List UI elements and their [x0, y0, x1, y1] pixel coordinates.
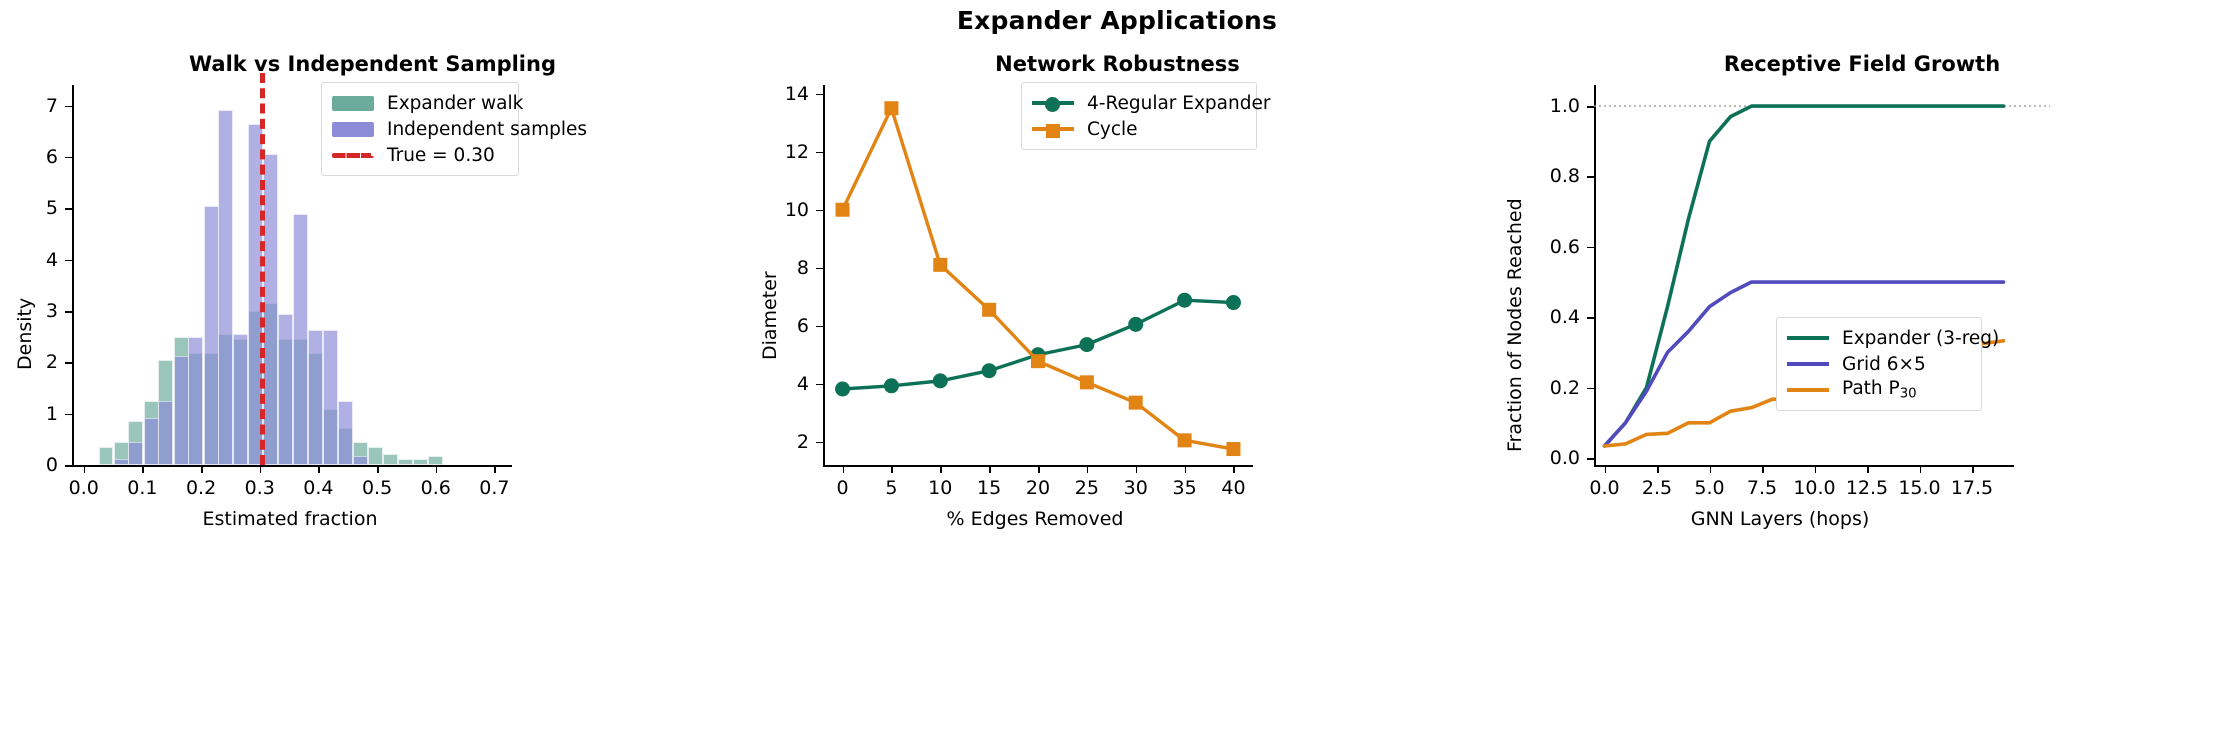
- x-tick-label: 10.0: [1793, 477, 1835, 499]
- x-tick: [201, 466, 203, 473]
- x-tick-label: 5.0: [1694, 477, 1724, 499]
- y-tick: [1587, 106, 1594, 108]
- histogram-bar: [174, 356, 189, 465]
- x-tick-label: 0.4: [303, 477, 333, 499]
- x-tick: [260, 466, 262, 473]
- true-value-vline: [260, 73, 265, 465]
- data-point-marker: [1128, 317, 1143, 332]
- x-tick: [1867, 466, 1869, 473]
- legend-line: [1787, 336, 1829, 340]
- x-tick-label: 30: [1124, 477, 1148, 499]
- panel1-legend-item[interactable]: Independent samples: [332, 116, 508, 142]
- y-tick: [816, 268, 823, 270]
- histogram-bar: [413, 459, 428, 465]
- series-line: [843, 300, 1234, 389]
- y-tick-label: 1: [46, 403, 58, 425]
- data-point-marker: [1080, 375, 1094, 389]
- x-tick-label: 0.5: [362, 477, 392, 499]
- x-tick-label: 0.3: [245, 477, 275, 499]
- histogram-bar: [233, 334, 248, 465]
- data-point-marker: [933, 258, 947, 272]
- legend-circle-marker: [1045, 97, 1060, 112]
- y-tick-label: 0.4: [1550, 306, 1580, 328]
- y-tick-label: 14: [785, 83, 809, 105]
- x-tick: [989, 466, 991, 473]
- x-tick: [494, 466, 496, 473]
- y-tick-label: 2: [46, 351, 58, 373]
- legend-swatch: [332, 122, 374, 137]
- data-point-marker: [835, 382, 850, 397]
- x-tick-label: 15.0: [1898, 477, 1940, 499]
- x-tick: [1087, 466, 1089, 473]
- x-tick-label: 0.7: [479, 477, 509, 499]
- legend-label: True = 0.30: [387, 145, 495, 166]
- y-tick-label: 5: [46, 197, 58, 219]
- x-tick-label: 0.0: [69, 477, 99, 499]
- data-point-marker: [836, 203, 850, 217]
- panel2-title: Network Robustness: [745, 52, 1490, 76]
- x-tick: [891, 466, 893, 473]
- panel2-legend: 4-Regular ExpanderCycle: [1021, 82, 1257, 150]
- y-tick-label: 3: [46, 300, 58, 322]
- x-tick-label: 40: [1221, 477, 1245, 499]
- histogram-bar: [158, 401, 173, 465]
- x-tick: [1233, 466, 1235, 473]
- x-tick-label: 5: [885, 477, 897, 499]
- data-point-marker: [933, 373, 948, 388]
- histogram-bar: [204, 206, 219, 465]
- y-tick: [816, 442, 823, 444]
- x-tick: [377, 466, 379, 473]
- x-tick: [318, 466, 320, 473]
- legend-label: Independent samples: [387, 119, 587, 140]
- panel3-ylabel: Fraction of Nodes Reached: [1504, 198, 1526, 452]
- y-tick-label: 0.0: [1550, 447, 1580, 469]
- y-tick-label: 10: [785, 199, 809, 221]
- x-tick: [1762, 466, 1764, 473]
- data-point-marker: [884, 101, 898, 115]
- panel-walk-vs-independent-sampling: Walk vs Independent Sampling Density Est…: [0, 40, 745, 740]
- histogram-bar: [99, 447, 114, 465]
- x-tick: [1605, 466, 1607, 473]
- histogram-bar: [218, 110, 233, 465]
- histogram-bar: [383, 454, 398, 465]
- y-tick-label: 0: [46, 454, 58, 476]
- panel2-plot-area: 051015202530354024681012144-Regular Expa…: [823, 85, 1253, 465]
- axis-spine-left: [72, 85, 74, 465]
- panel3-legend-item[interactable]: Path P30: [1787, 377, 1971, 403]
- x-tick-label: 7.5: [1747, 477, 1777, 499]
- panel2-legend-item[interactable]: Cycle: [1032, 116, 1246, 142]
- x-tick-label: 20: [1026, 477, 1050, 499]
- y-tick-label: 2: [797, 431, 809, 453]
- data-point-marker: [1031, 354, 1045, 368]
- y-tick-label: 1.0: [1550, 95, 1580, 117]
- series-line: [843, 108, 1234, 449]
- y-tick-label: 6: [797, 315, 809, 337]
- y-tick: [65, 362, 72, 364]
- y-tick-label: 0.8: [1550, 165, 1580, 187]
- x-tick-label: 25: [1075, 477, 1099, 499]
- x-tick: [84, 466, 86, 473]
- x-tick: [1815, 466, 1817, 473]
- x-tick-label: 0: [836, 477, 848, 499]
- panel3-plot-area: 0.02.55.07.510.012.515.017.50.00.20.40.6…: [1594, 85, 2014, 465]
- x-tick-label: 2.5: [1642, 477, 1672, 499]
- x-tick: [1920, 466, 1922, 473]
- x-tick: [940, 466, 942, 473]
- y-tick: [1587, 388, 1594, 390]
- x-tick-label: 15: [977, 477, 1001, 499]
- axis-spine-bottom: [72, 465, 512, 467]
- y-tick: [816, 384, 823, 386]
- data-point-marker: [982, 303, 996, 317]
- histogram-bar: [353, 456, 368, 465]
- y-tick-label: 0.6: [1550, 236, 1580, 258]
- data-point-marker: [982, 363, 997, 378]
- histogram-bar: [114, 459, 129, 465]
- legend-square-marker: [1046, 124, 1060, 138]
- y-tick: [1587, 458, 1594, 460]
- x-tick-label: 0.2: [186, 477, 216, 499]
- x-tick: [436, 466, 438, 473]
- x-tick-label: 0.6: [421, 477, 451, 499]
- histogram-bar: [144, 418, 159, 465]
- data-point-marker: [1177, 293, 1192, 308]
- histogram-bar: [323, 330, 338, 465]
- y-tick: [65, 106, 72, 108]
- y-tick: [65, 157, 72, 159]
- panel1-legend: Expander walkIndependent samplesTrue = 0…: [321, 82, 519, 176]
- histogram-bar: [278, 314, 293, 465]
- legend-line: [1787, 362, 1829, 366]
- x-tick: [142, 466, 144, 473]
- panel3-legend: Expander (3-reg)Grid 6×5Path P30: [1776, 317, 1982, 411]
- y-tick: [65, 465, 72, 467]
- histogram-bar: [368, 447, 383, 465]
- y-tick: [65, 260, 72, 262]
- panel1-xlabel: Estimated fraction: [60, 508, 520, 530]
- figure-suptitle: Expander Applications: [0, 6, 2234, 35]
- y-tick: [816, 210, 823, 212]
- y-tick: [1587, 247, 1594, 249]
- legend-line: [1032, 101, 1074, 105]
- y-tick: [1587, 176, 1594, 178]
- y-tick: [1587, 317, 1594, 319]
- data-point-marker: [1079, 337, 1094, 352]
- y-tick-label: 0.2: [1550, 377, 1580, 399]
- panel2-ylabel: Diameter: [759, 271, 781, 360]
- x-tick-label: 0.0: [1589, 477, 1619, 499]
- data-point-marker: [1226, 442, 1240, 456]
- legend-label: Path P30: [1842, 378, 1917, 402]
- y-tick-label: 7: [46, 95, 58, 117]
- x-tick-label: 12.5: [1846, 477, 1888, 499]
- panel1-plot-area: 0.00.10.20.30.40.50.60.701234567Expander…: [72, 85, 512, 465]
- legend-label: 4-Regular Expander: [1087, 93, 1270, 114]
- legend-line: [1787, 388, 1829, 392]
- y-tick: [816, 152, 823, 154]
- y-tick-label: 4: [46, 249, 58, 271]
- y-tick: [65, 208, 72, 210]
- panel3-legend-item[interactable]: Grid 6×5: [1787, 351, 1971, 377]
- legend-line: [1032, 127, 1074, 131]
- y-tick-label: 8: [797, 257, 809, 279]
- histogram-bar: [398, 459, 413, 465]
- panel3-title: Receptive Field Growth: [1490, 52, 2234, 76]
- x-tick: [1710, 466, 1712, 473]
- figure-expander-applications: Expander Applications Walk vs Independen…: [0, 0, 2234, 742]
- y-tick: [816, 326, 823, 328]
- panel3-xlabel: GNN Layers (hops): [1550, 508, 2010, 530]
- x-tick-label: 35: [1172, 477, 1196, 499]
- data-point-marker: [884, 378, 899, 393]
- histogram-bar: [428, 456, 443, 465]
- data-point-marker: [1226, 295, 1241, 310]
- panel1-legend-item[interactable]: Expander walk: [332, 90, 508, 116]
- x-tick: [1038, 466, 1040, 473]
- y-tick: [65, 414, 72, 416]
- x-tick: [843, 466, 845, 473]
- panel1-legend-item[interactable]: True = 0.30: [332, 142, 508, 168]
- data-point-marker: [1129, 396, 1143, 410]
- legend-label: Grid 6×5: [1842, 354, 1926, 375]
- x-tick: [1972, 466, 1974, 473]
- data-point-marker: [1178, 433, 1192, 447]
- y-tick: [816, 94, 823, 96]
- panel2-xlabel: % Edges Removed: [805, 508, 1265, 530]
- y-tick-label: 4: [797, 373, 809, 395]
- legend-label: Expander (3-reg): [1842, 328, 1999, 349]
- panel-network-robustness: Network Robustness Diameter % Edges Remo…: [745, 40, 1490, 740]
- x-tick-label: 0.1: [127, 477, 157, 499]
- y-tick: [65, 311, 72, 313]
- x-tick: [1657, 466, 1659, 473]
- histogram-bar: [128, 442, 143, 465]
- y-tick-label: 12: [785, 141, 809, 163]
- histogram-bar: [188, 337, 203, 465]
- x-tick: [1185, 466, 1187, 473]
- legend-label: Expander walk: [387, 93, 523, 114]
- x-tick-label: 17.5: [1951, 477, 1993, 499]
- panel1-title: Walk vs Independent Sampling: [0, 52, 745, 76]
- panel3-legend-item[interactable]: Expander (3-reg): [1787, 325, 1971, 351]
- histogram-bar: [293, 214, 308, 465]
- legend-swatch: [332, 96, 374, 111]
- y-tick-label: 6: [46, 146, 58, 168]
- histogram-bar: [338, 401, 353, 465]
- histogram-bar: [263, 154, 278, 465]
- legend-label: Cycle: [1087, 119, 1138, 140]
- panel1-ylabel: Density: [14, 298, 36, 370]
- x-tick: [1136, 466, 1138, 473]
- legend-dashed-line: [332, 153, 374, 158]
- panel-receptive-field-growth: Receptive Field Growth Fraction of Nodes…: [1490, 40, 2234, 740]
- histogram-bar: [308, 330, 323, 465]
- panel2-legend-item[interactable]: 4-Regular Expander: [1032, 90, 1246, 116]
- x-tick-label: 10: [928, 477, 952, 499]
